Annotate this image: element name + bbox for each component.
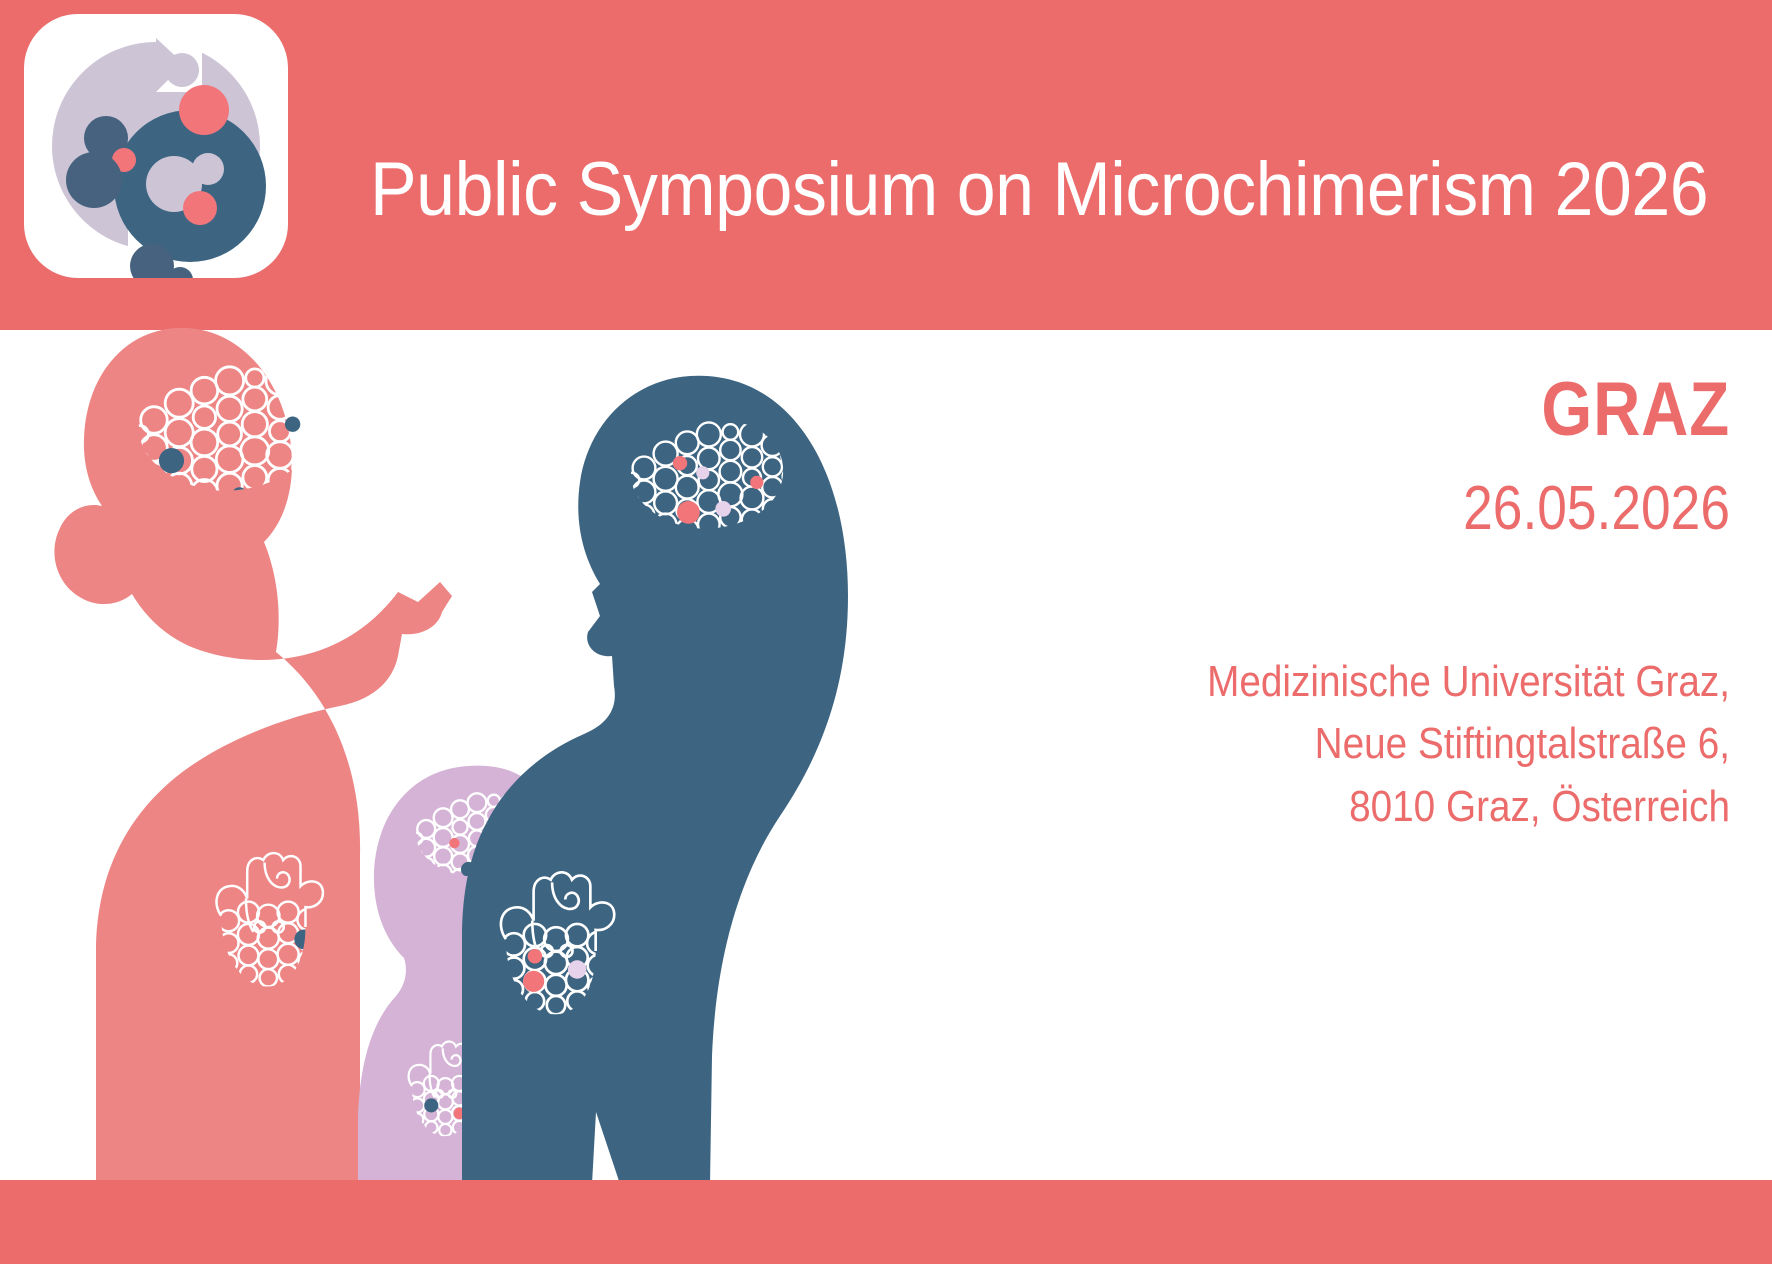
event-city: GRAZ [1180, 370, 1730, 450]
silhouette-illustration [0, 296, 1060, 1184]
poster-canvas: Public Symposium on Microchimerism 2026 [0, 0, 1772, 1264]
event-info-column: GRAZ 26.05.2026 Medizinische Universität… [1090, 370, 1730, 838]
venue-line-2: Neue Stiftingtalstraße 6, [1167, 713, 1730, 775]
event-venue-address: Medizinische Universität Graz, Neue Stif… [1167, 651, 1730, 838]
header-band: Public Symposium on Microchimerism 2026 [0, 0, 1772, 330]
event-date: 26.05.2026 [1180, 476, 1730, 541]
venue-line-1: Medizinische Universität Graz, [1167, 651, 1730, 713]
silhouettes-svg [0, 296, 1060, 1184]
daughter-silhouette [462, 376, 848, 1184]
page-title: Public Symposium on Microchimerism 2026 [370, 152, 1708, 228]
logo-tile [24, 14, 288, 278]
footer-band [0, 1180, 1772, 1264]
microchimerism-cells-logo-icon [24, 14, 288, 278]
venue-line-3: 8010 Graz, Österreich [1167, 776, 1730, 838]
